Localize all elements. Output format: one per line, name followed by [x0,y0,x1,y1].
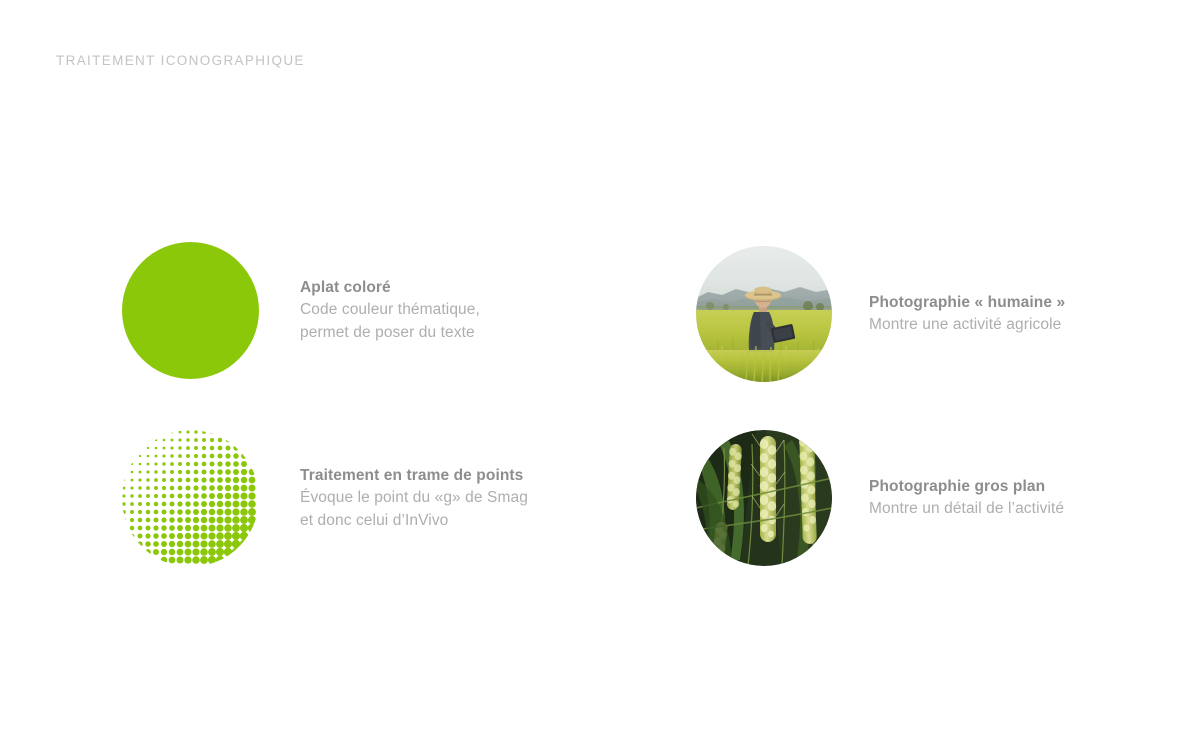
caption-title: Photographie gros plan [869,476,1064,498]
caption-subtitle-line-1: Montre une activité agricole [869,314,1065,337]
slide-canvas: TRAITEMENT ICONOGRAPHIQUE Aplat coloré C… [0,0,1200,740]
caption-subtitle-line-1: Code couleur thématique, [300,299,480,322]
page-title: TRAITEMENT ICONOGRAPHIQUE [56,53,305,68]
caption-subtitle-line-2: permet de poser du texte [300,322,480,345]
photo-closeup-disc-icon [696,430,832,566]
caption-block: Traitement en trame de points Évoque le … [300,465,528,532]
photo-human-disc-icon [696,246,832,382]
caption-subtitle-line-2: et donc celui d’InVivo [300,510,528,533]
caption-block: Aplat coloré Code couleur thématique, pe… [300,277,480,344]
flat-color-disc-icon [122,242,259,379]
feature-item-photographie-gros-plan: Photographie gros plan Montre un détail … [696,430,1064,566]
halftone-dots-disc-icon [122,430,259,567]
caption-title: Photographie « humaine » [869,292,1065,314]
caption-subtitle-line-1: Évoque le point du «g» de Smag [300,487,528,510]
caption-block: Photographie gros plan Montre un détail … [869,476,1064,521]
caption-title: Traitement en trame de points [300,465,528,487]
feature-item-photographie-humaine: Photographie « humaine » Montre une acti… [696,246,1065,382]
caption-block: Photographie « humaine » Montre une acti… [869,292,1065,337]
caption-subtitle-line-1: Montre un détail de l’activité [869,498,1064,521]
feature-item-aplat-colore: Aplat coloré Code couleur thématique, pe… [122,242,480,379]
feature-item-trame-de-points: Traitement en trame de points Évoque le … [122,430,528,567]
caption-title: Aplat coloré [300,277,480,299]
